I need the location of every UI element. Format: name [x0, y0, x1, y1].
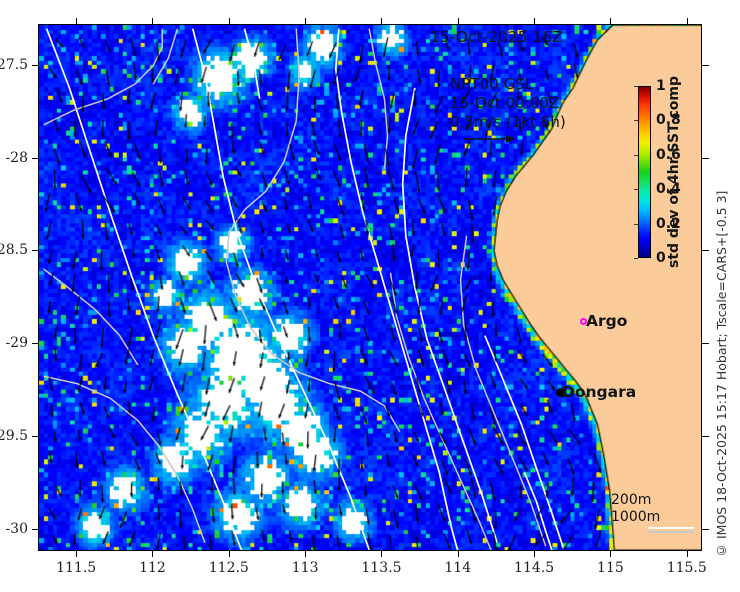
argo-legend-label: Argo: [586, 312, 627, 330]
x-axis-label: 115.5: [667, 560, 707, 576]
colorbar-tick-label: 0: [656, 250, 666, 266]
current-model-annotation: NRT00 GSL 15-Oct 00:00Z 0.5m/s (1kt 6h): [450, 75, 566, 132]
y-axis-tick-right: [702, 529, 709, 530]
y-axis-label: -29.5: [0, 428, 28, 444]
current-model-name: NRT00 GSL: [450, 75, 566, 94]
x-axis-tick-top: [229, 18, 230, 24]
map-plot-area[interactable]: [38, 24, 702, 551]
y-axis-label: -28.5: [0, 242, 28, 258]
x-axis-tick: [229, 551, 230, 557]
y-axis-label: -29: [5, 335, 28, 351]
y-axis-tick: [32, 250, 38, 251]
y-axis-tick: [32, 158, 38, 159]
y-axis-tick-right: [702, 250, 709, 251]
x-axis-label: 111.5: [56, 560, 96, 576]
colorbar-tick: [634, 224, 638, 225]
y-axis-tick: [32, 436, 38, 437]
colorbar-tick: [634, 189, 638, 190]
x-axis-label: 115: [597, 560, 624, 576]
depth-1000m-label: 1000m: [611, 509, 660, 526]
dongara-city-label: Dongara: [562, 383, 636, 401]
x-axis-label: 113: [292, 560, 319, 576]
y-axis-tick-right: [702, 343, 709, 344]
x-axis-tick: [687, 551, 688, 557]
x-axis-tick-top: [76, 18, 77, 24]
y-axis-label: -30: [5, 521, 28, 537]
x-axis-label: 114: [444, 560, 471, 576]
date-stamp: 15-Oct-2025 16Z: [430, 28, 563, 46]
x-axis-tick: [305, 551, 306, 557]
colorbar-tick: [634, 155, 638, 156]
x-axis-tick-top: [534, 18, 535, 24]
colorbar-tick: [634, 120, 638, 121]
x-axis-tick-top: [305, 18, 306, 24]
x-axis-label: 113.5: [361, 560, 401, 576]
surface-current-vectors: [39, 25, 701, 550]
credit-text: © IMOS 18-Oct-2025 15:17 Hobart; Tscale=…: [714, 186, 729, 558]
y-axis-label: -28: [5, 150, 28, 166]
colorbar: 00.20.40.60.81: [638, 86, 651, 258]
y-axis-tick: [32, 65, 38, 66]
x-axis-tick: [610, 551, 611, 557]
reference-arrow-icon: [462, 131, 518, 147]
depth-1000m-rule: [648, 527, 694, 529]
colorbar-gradient: [638, 86, 651, 258]
y-axis-tick: [32, 529, 38, 530]
y-axis-tick-right: [702, 65, 709, 66]
depth-200m-label: 200m: [611, 492, 660, 509]
y-axis-tick: [32, 343, 38, 344]
x-axis-label: 114.5: [514, 560, 554, 576]
colorbar-title: std dev of 4hr SST comp: [666, 86, 682, 258]
colorbar-tick: [634, 86, 638, 87]
colorbar-tick: [634, 258, 638, 259]
x-axis-tick: [534, 551, 535, 557]
x-axis-tick: [381, 551, 382, 557]
x-axis-tick-top: [381, 18, 382, 24]
x-axis-tick: [458, 551, 459, 557]
x-axis-tick-top: [610, 18, 611, 24]
current-model-time: 15-Oct 00:00Z: [450, 94, 566, 113]
depth-200m-rule: [648, 531, 694, 533]
y-axis-label: -27.5: [0, 57, 28, 73]
x-axis-label: 112.5: [209, 560, 249, 576]
x-axis-label: 112: [139, 560, 166, 576]
x-axis-tick-top: [152, 18, 153, 24]
x-axis-tick-top: [458, 18, 459, 24]
bathymetry-legend: 200m 1000m: [611, 492, 660, 526]
y-axis-tick-right: [702, 436, 709, 437]
colorbar-tick-label: 1: [656, 78, 666, 94]
current-vector-scale: 0.5m/s (1kt 6h): [450, 113, 566, 132]
x-axis-tick: [152, 551, 153, 557]
x-axis-tick: [76, 551, 77, 557]
x-axis-tick-top: [687, 18, 688, 24]
y-axis-tick-right: [702, 158, 709, 159]
